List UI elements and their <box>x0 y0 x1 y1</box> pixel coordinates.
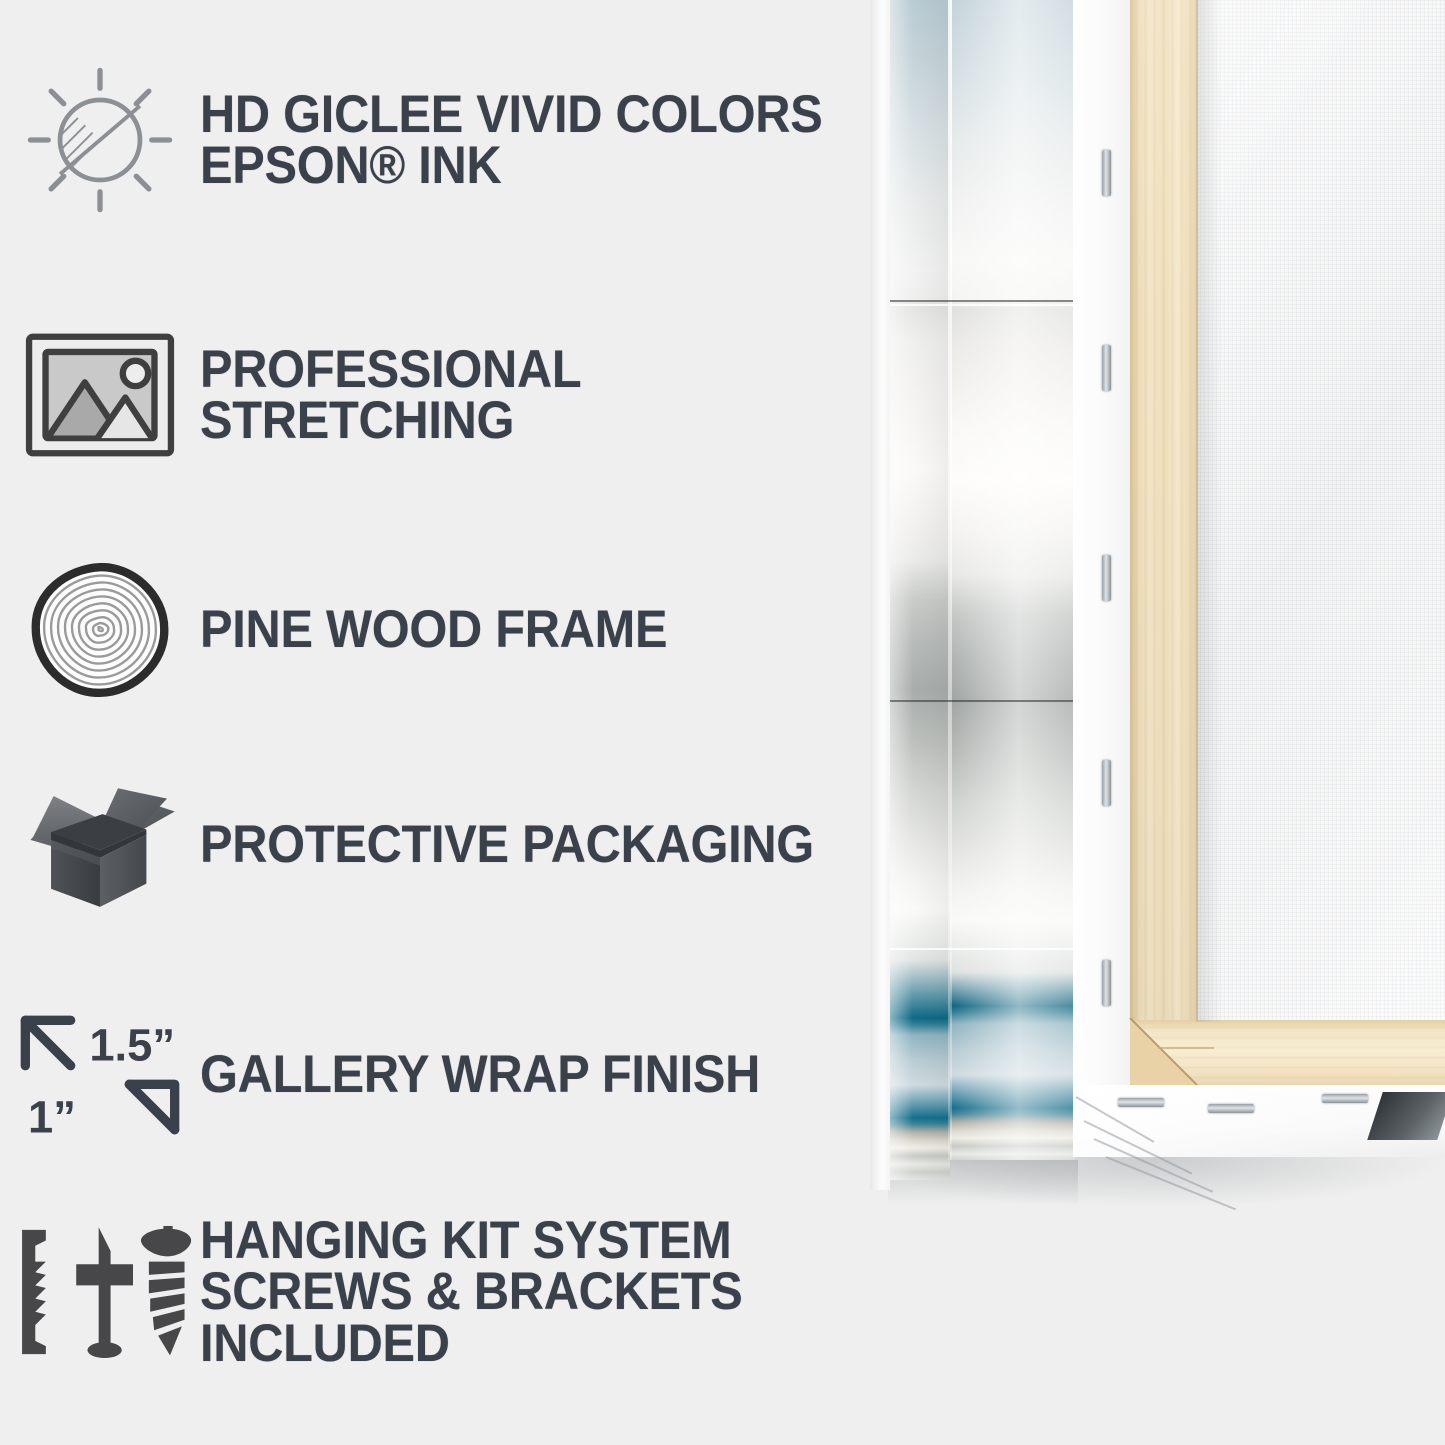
feature-list: HD GICLEE VIVID COLORS EPSON® INK PROFES… <box>0 0 880 1445</box>
feature-row-pine: PINE WOOD FRAME <box>0 555 880 705</box>
canvas-corner-fold-line <box>948 0 952 1160</box>
feature-label-pine: PINE WOOD FRAME <box>200 604 826 655</box>
canvas-corner-back-photo <box>870 0 1445 1210</box>
picture-frame-icon <box>0 320 200 470</box>
sun-brightness-icon <box>0 65 200 215</box>
feature-label-hanging-kit: HANGING KIT SYSTEM SCREWS & BRACKETS INC… <box>200 1215 826 1369</box>
staple <box>1208 1104 1254 1113</box>
dimension-label-bottom: 1” <box>28 1091 76 1142</box>
staple <box>1102 760 1111 806</box>
printed-canvas-edge-front <box>888 0 950 1180</box>
staple <box>1118 1098 1164 1107</box>
feature-label-giclee: HD GICLEE VIVID COLORS EPSON® INK <box>200 89 826 192</box>
dimension-label-top: 1.5” <box>89 1019 175 1070</box>
feature-row-packaging: PROTECTIVE PACKAGING <box>0 770 880 920</box>
staple <box>1102 960 1111 1006</box>
feature-row-stretching: PROFESSIONAL STRETCHING <box>0 320 880 470</box>
feature-label-gallery-wrap: GALLERY WRAP FINISH <box>200 1049 826 1100</box>
staple <box>1102 345 1111 391</box>
staple <box>1322 1094 1368 1103</box>
canvas-back-inner-shadow <box>1196 0 1222 1022</box>
feature-label-stretching: PROFESSIONAL STRETCHING <box>200 344 826 447</box>
tree-rings-icon <box>0 555 200 705</box>
pine-stretcher-bar-vertical <box>1130 0 1198 1095</box>
dimension-arrows-icon: 1.5” 1” <box>0 1000 200 1150</box>
feature-label-packaging: PROTECTIVE PACKAGING <box>200 819 826 870</box>
staple <box>1102 150 1111 196</box>
open-box-icon <box>0 770 200 920</box>
feature-row-gallery-wrap: 1.5” 1” GALLERY WRAP FINISH <box>0 1000 880 1150</box>
staple <box>1102 555 1111 601</box>
feature-row-hanging-kit: HANGING KIT SYSTEM SCREWS & BRACKETS INC… <box>0 1215 880 1369</box>
canvas-back-fabric <box>1196 0 1445 1022</box>
infographic-canvas: HD GICLEE VIVID COLORS EPSON® INK PROFES… <box>0 0 1445 1445</box>
feature-row-giclee: HD GICLEE VIVID COLORS EPSON® INK <box>0 65 880 215</box>
hanging-hardware-icon <box>0 1217 200 1367</box>
printed-canvas-edge-side <box>950 0 1075 1160</box>
